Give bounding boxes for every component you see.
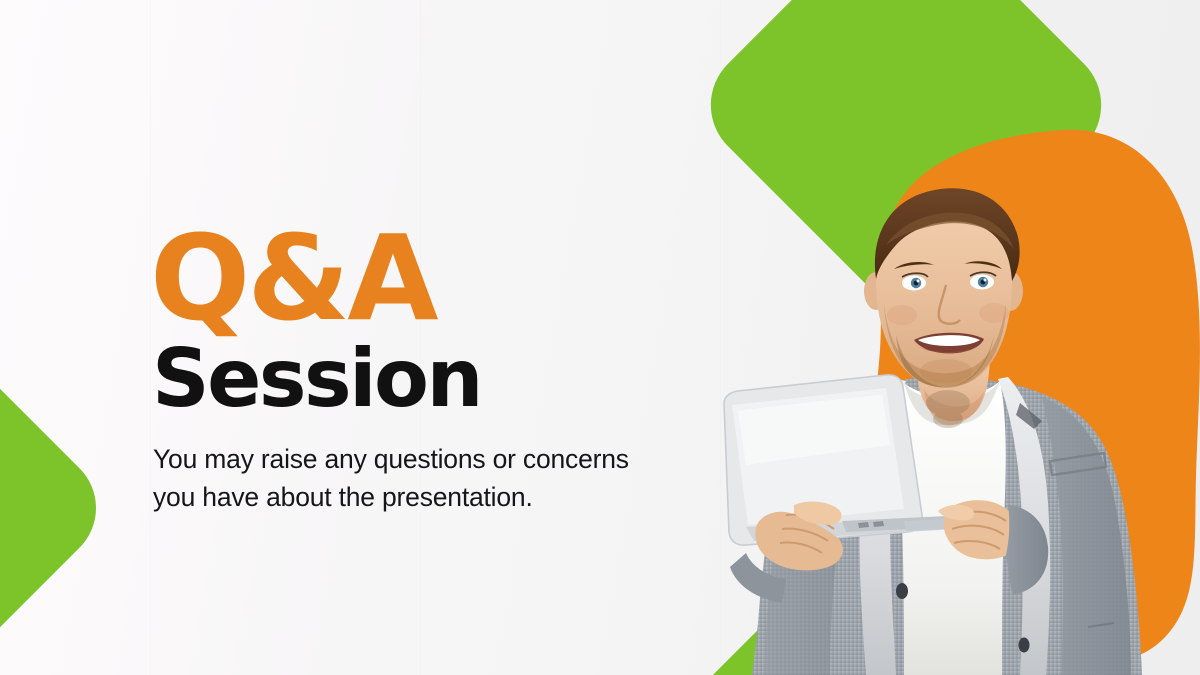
slide-canvas: Q&A Session You may raise any questions … [0, 0, 1200, 675]
head-group [864, 188, 1023, 388]
green-diamond-left [0, 289, 119, 675]
page-title-subhead: Session [152, 339, 750, 419]
page-title-headline: Q&A [150, 222, 750, 335]
body-line-1: You may raise any questions or concerns [153, 441, 733, 479]
body-line-2: you have about the presentation. [153, 479, 733, 517]
text-block: Q&A Session You may raise any questions … [150, 222, 750, 517]
body-paragraph: You may raise any questions or concerns … [153, 441, 733, 516]
presenter-photo [690, 175, 1200, 675]
